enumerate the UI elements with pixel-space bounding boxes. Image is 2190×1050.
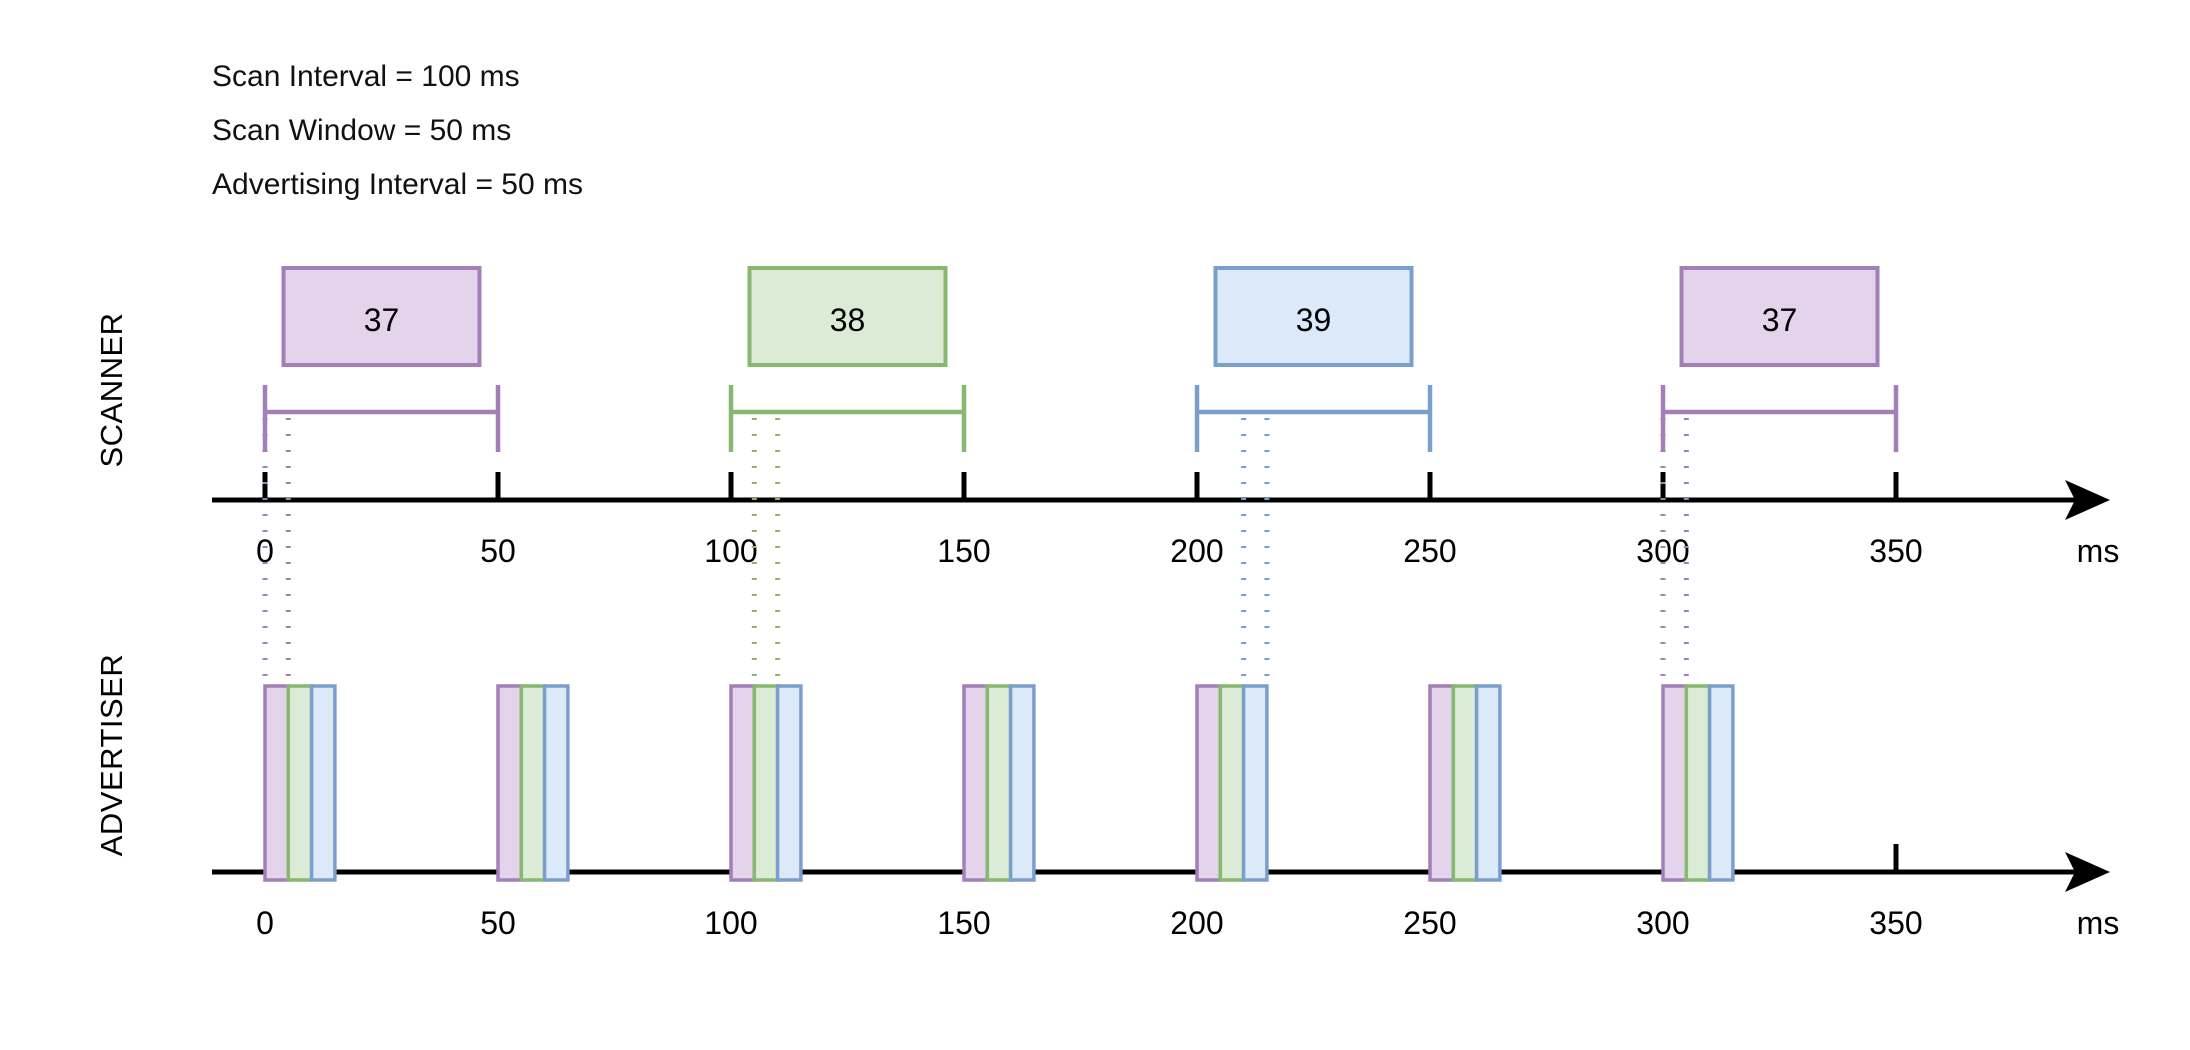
scanner-row-label: SCANNER [94, 312, 129, 467]
scan-window-bracket-0 [265, 385, 498, 452]
scanner-tick-label-150: 150 [937, 533, 990, 569]
advertiser-row: 050100150200250300350ms [212, 686, 2119, 941]
scan-window-bracket-2 [1197, 385, 1430, 452]
advertising-pdu-3-ch39 [1011, 686, 1034, 880]
advertising-pdu-5-ch37 [1430, 686, 1453, 880]
advertising-pdu-2-ch37 [731, 686, 754, 880]
advertiser-tick-label-150: 150 [937, 905, 990, 941]
diagram-canvas: Scan Interval = 100 ms Scan Window = 50 … [0, 0, 2190, 1050]
advertising-pdu-0-ch38 [288, 686, 311, 880]
advertising-pdu-3-ch38 [987, 686, 1010, 880]
scanner-axis-unit-label: ms [2077, 533, 2120, 569]
advertiser-row-label: ADVERTISER [94, 654, 129, 857]
advertising-pdu-6-ch39 [1710, 686, 1733, 880]
advertising-pdu-0-ch37 [265, 686, 288, 880]
scan-window-bracket-1 [731, 385, 964, 452]
advertiser-tick-label-200: 200 [1170, 905, 1223, 941]
scan-window-channel-label-1: 38 [830, 302, 866, 338]
advertising-pdu-4-ch38 [1220, 686, 1243, 880]
advertising-pdu-4-ch37 [1197, 686, 1220, 880]
scanner-tick-label-250: 250 [1403, 533, 1456, 569]
timing-diagram-svg: 050100150200250300350ms37383937 05010015… [0, 0, 2190, 1050]
scanner-tick-label-50: 50 [480, 533, 516, 569]
advertiser-tick-label-250: 250 [1403, 905, 1456, 941]
scanner-tick-label-350: 350 [1869, 533, 1922, 569]
advertiser-tick-label-300: 300 [1636, 905, 1689, 941]
scanner-row: 050100150200250300350ms37383937 [212, 268, 2119, 569]
advertising-pdu-1-ch37 [498, 686, 521, 880]
scanner-tick-label-100: 100 [704, 533, 757, 569]
advertiser-tick-label-0: 0 [256, 905, 274, 941]
advertising-pdu-5-ch38 [1453, 686, 1476, 880]
scanner-tick-label-200: 200 [1170, 533, 1223, 569]
advertiser-tick-label-50: 50 [480, 905, 516, 941]
advertising-pdu-6-ch38 [1686, 686, 1709, 880]
advertiser-tick-label-100: 100 [704, 905, 757, 941]
scan-window-channel-label-3: 37 [1762, 302, 1798, 338]
scan-window-bracket-3 [1663, 385, 1896, 452]
scan-window-channel-label-2: 39 [1296, 302, 1332, 338]
advertising-pdu-3-ch37 [964, 686, 987, 880]
scan-window-channel-label-0: 37 [364, 302, 400, 338]
advertising-pdu-2-ch38 [754, 686, 777, 880]
advertising-pdu-5-ch39 [1477, 686, 1500, 880]
advertiser-tick-label-350: 350 [1869, 905, 1922, 941]
advertiser-axis-unit-label: ms [2077, 905, 2120, 941]
advertising-pdu-1-ch38 [521, 686, 544, 880]
advertising-pdu-0-ch39 [312, 686, 335, 880]
advertising-pdu-1-ch39 [545, 686, 568, 880]
advertising-pdu-2-ch39 [778, 686, 801, 880]
advertising-pdu-4-ch39 [1244, 686, 1267, 880]
advertising-pdu-6-ch37 [1663, 686, 1686, 880]
